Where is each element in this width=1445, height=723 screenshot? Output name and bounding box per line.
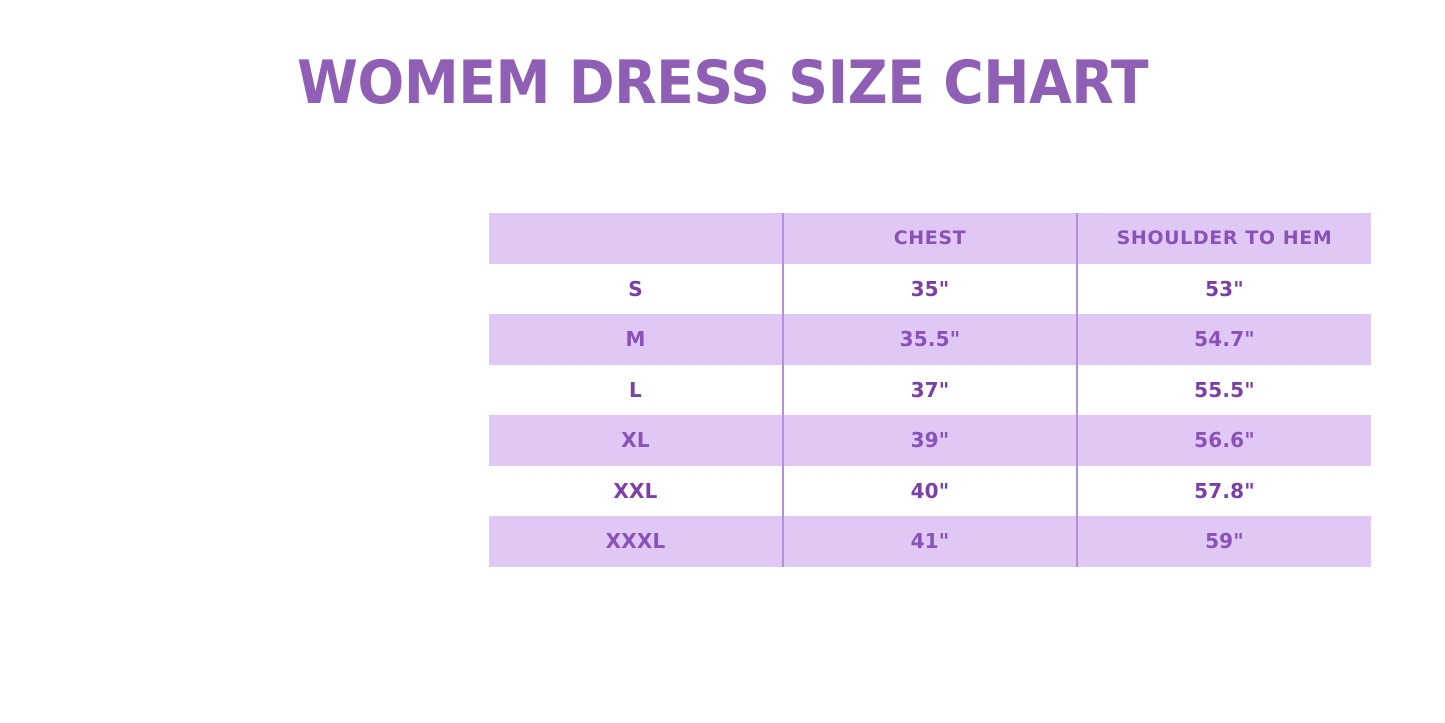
column-header-size [489, 213, 783, 264]
table-header-row: CHEST SHOULDER TO HEM [489, 213, 1371, 264]
cell-chest: 40" [783, 466, 1077, 517]
table-body: S 35" 53" M 35.5" 54.7" L 37" 55.5" XL 3… [489, 264, 1371, 567]
cell-shoulder-to-hem: 57.8" [1077, 466, 1371, 517]
page-title: WOMEM DRESS SIZE CHART [58, 52, 1387, 115]
cell-size: S [489, 264, 783, 315]
size-chart-table-container: CHEST SHOULDER TO HEM S 35" 53" M 35.5" … [489, 213, 1371, 567]
table-row: XXXL 41" 59" [489, 516, 1371, 567]
cell-shoulder-to-hem: 56.6" [1077, 415, 1371, 466]
cell-size: L [489, 365, 783, 416]
column-header-shoulder-to-hem: SHOULDER TO HEM [1077, 213, 1371, 264]
size-chart-table: CHEST SHOULDER TO HEM S 35" 53" M 35.5" … [489, 213, 1371, 567]
table-row: XXL 40" 57.8" [489, 466, 1371, 517]
cell-size: M [489, 314, 783, 365]
cell-chest: 39" [783, 415, 1077, 466]
size-chart-page: WOMEM DRESS SIZE CHART CHEST SHOULDER TO… [0, 0, 1445, 723]
cell-shoulder-to-hem: 53" [1077, 264, 1371, 315]
cell-shoulder-to-hem: 54.7" [1077, 314, 1371, 365]
cell-chest: 41" [783, 516, 1077, 567]
cell-shoulder-to-hem: 55.5" [1077, 365, 1371, 416]
cell-chest: 35" [783, 264, 1077, 315]
table-row: S 35" 53" [489, 264, 1371, 315]
table-row: XL 39" 56.6" [489, 415, 1371, 466]
cell-size: XXXL [489, 516, 783, 567]
cell-shoulder-to-hem: 59" [1077, 516, 1371, 567]
table-row: M 35.5" 54.7" [489, 314, 1371, 365]
table-row: L 37" 55.5" [489, 365, 1371, 416]
table-header: CHEST SHOULDER TO HEM [489, 213, 1371, 264]
cell-chest: 35.5" [783, 314, 1077, 365]
cell-size: XXL [489, 466, 783, 517]
column-header-chest: CHEST [783, 213, 1077, 264]
cell-chest: 37" [783, 365, 1077, 416]
cell-size: XL [489, 415, 783, 466]
